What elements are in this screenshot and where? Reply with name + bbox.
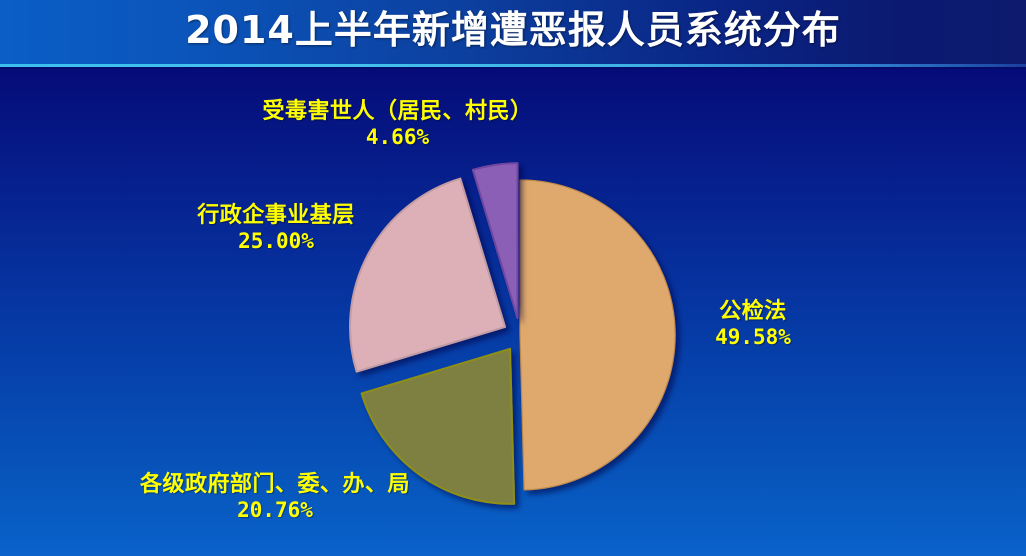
slice-label-xingzheng-percent: 25.00% [131, 229, 421, 253]
slice-label-gongjianfa-category: 公检法 [658, 299, 848, 325]
slice-label-shouduhai: 受毒害世人（居民、村民） 4.66% [215, 99, 580, 149]
title-bar-rule-shadow [0, 67, 1026, 69]
slice-label-zhengfu: 各级政府部门、委、办、局 20.76% [75, 472, 475, 522]
slide: 受毒害世人（居民、村民） 4.66% 行政企事业基层 25.00% 各级政府部门… [0, 0, 1026, 556]
slice-label-gongjianfa-percent: 49.58% [658, 325, 848, 349]
slice-label-zhengfu-percent: 20.76% [75, 498, 475, 522]
slice-label-shouduhai-category: 受毒害世人（居民、村民） [215, 99, 580, 125]
slice-label-zhengfu-category: 各级政府部门、委、办、局 [75, 472, 475, 498]
slice-label-shouduhai-percent: 4.66% [215, 125, 580, 149]
slice-label-gongjianfa: 公检法 49.58% [658, 299, 848, 349]
page-title: 2014上半年新增遭恶报人员系统分布 [0, 0, 1026, 64]
slice-label-xingzheng-category: 行政企事业基层 [131, 203, 421, 229]
pie-slice [520, 180, 675, 490]
slice-label-xingzheng: 行政企事业基层 25.00% [131, 203, 421, 253]
